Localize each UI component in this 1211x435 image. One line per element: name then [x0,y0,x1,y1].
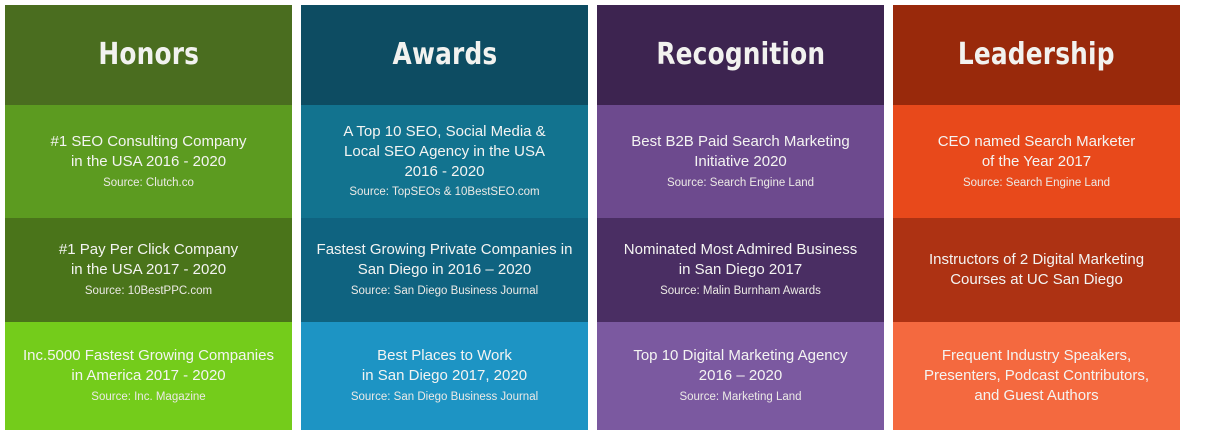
column-title: Honors [98,40,199,70]
award-item-source: Source: Malin Burnham Awards [660,284,821,300]
award-item: Fastest Growing Private Companies in San… [301,218,588,322]
award-column-recognition: RecognitionBest B2B Paid Search Marketin… [597,5,884,430]
award-item-source: Source: San Diego Business Journal [351,390,538,406]
award-item-title: Top 10 Digital Marketing Agency 2016 – 2… [633,346,847,386]
award-item-title: Best Places to Work in San Diego 2017, 2… [362,346,527,386]
column-title: Awards [392,40,497,70]
award-item-title: Nominated Most Admired Business in San D… [624,240,857,280]
award-item-source: Source: Marketing Land [679,390,801,406]
awards-board: Honors#1 SEO Consulting Company in the U… [0,0,1211,435]
column-header-leadership: Leadership [893,5,1180,105]
column-title: Leadership [958,40,1115,70]
award-item: Top 10 Digital Marketing Agency 2016 – 2… [597,322,884,430]
award-item-source: Source: Search Engine Land [963,176,1110,192]
award-item: Best B2B Paid Search Marketing Initiativ… [597,105,884,218]
award-item-source: Source: Inc. Magazine [91,390,205,406]
award-column-honors: Honors#1 SEO Consulting Company in the U… [5,5,292,430]
award-item: CEO named Search Marketer of the Year 20… [893,105,1180,218]
award-column-leadership: LeadershipCEO named Search Marketer of t… [893,5,1180,430]
award-item-title: Instructors of 2 Digital Marketing Cours… [929,250,1144,290]
award-item-title: #1 Pay Per Click Company in the USA 2017… [59,240,238,280]
award-item: A Top 10 SEO, Social Media & Local SEO A… [301,105,588,218]
award-item: Nominated Most Admired Business in San D… [597,218,884,322]
award-item: #1 SEO Consulting Company in the USA 201… [5,105,292,218]
column-header-honors: Honors [5,5,292,105]
award-item-title: A Top 10 SEO, Social Media & Local SEO A… [343,122,545,181]
award-item-source: Source: 10BestPPC.com [85,284,212,300]
award-item-source: Source: Search Engine Land [667,176,814,192]
award-item-title: Frequent Industry Speakers, Presenters, … [924,346,1149,405]
award-item-source: Source: Clutch.co [103,176,194,192]
award-item: Inc.5000 Fastest Growing Companies in Am… [5,322,292,430]
award-item: Instructors of 2 Digital Marketing Cours… [893,218,1180,322]
award-item-title: CEO named Search Marketer of the Year 20… [938,132,1136,172]
award-item: Best Places to Work in San Diego 2017, 2… [301,322,588,430]
award-item-title: Fastest Growing Private Companies in San… [317,240,573,280]
award-item: Frequent Industry Speakers, Presenters, … [893,322,1180,430]
award-item-title: Best B2B Paid Search Marketing Initiativ… [631,132,849,172]
award-column-awards: AwardsA Top 10 SEO, Social Media & Local… [301,5,588,430]
column-header-awards: Awards [301,5,588,105]
award-item-source: Source: TopSEOs & 10BestSEO.com [349,185,539,201]
column-title: Recognition [656,40,825,70]
award-item-title: #1 SEO Consulting Company in the USA 201… [51,132,247,172]
award-item-title: Inc.5000 Fastest Growing Companies in Am… [23,346,274,386]
award-item-source: Source: San Diego Business Journal [351,284,538,300]
column-header-recognition: Recognition [597,5,884,105]
award-item: #1 Pay Per Click Company in the USA 2017… [5,218,292,322]
